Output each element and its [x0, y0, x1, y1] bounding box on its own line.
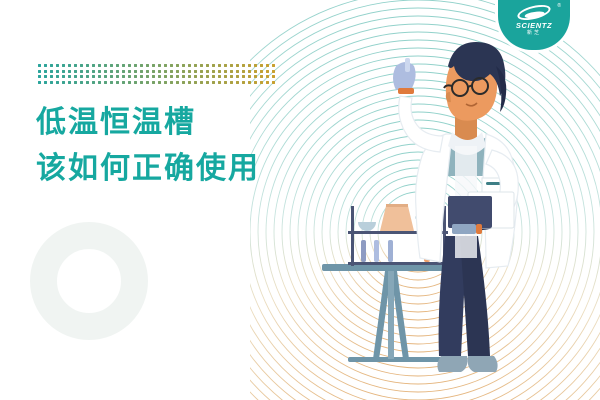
clipboard [448, 192, 514, 234]
hand-on-clipboard [452, 224, 476, 234]
scientist-figure [393, 42, 518, 372]
glove-hand [393, 62, 416, 90]
glove-cuff [398, 88, 414, 94]
held-test-tube [405, 58, 410, 72]
arm-raised [399, 96, 443, 152]
scientist-illustration [0, 0, 600, 400]
registered-mark: ® [557, 3, 561, 9]
test-tube [361, 240, 366, 262]
flask [380, 206, 414, 231]
poster-canvas: 低温恒温槽 该如何正确使用 [0, 0, 600, 400]
shoe-right [468, 356, 498, 372]
test-tube [388, 240, 393, 262]
logo-swoosh-icon [516, 2, 552, 23]
test-tube [374, 240, 379, 262]
brand-name-cn: 新芝 [527, 29, 541, 36]
bowl [358, 222, 376, 231]
shoe-left [437, 356, 467, 372]
